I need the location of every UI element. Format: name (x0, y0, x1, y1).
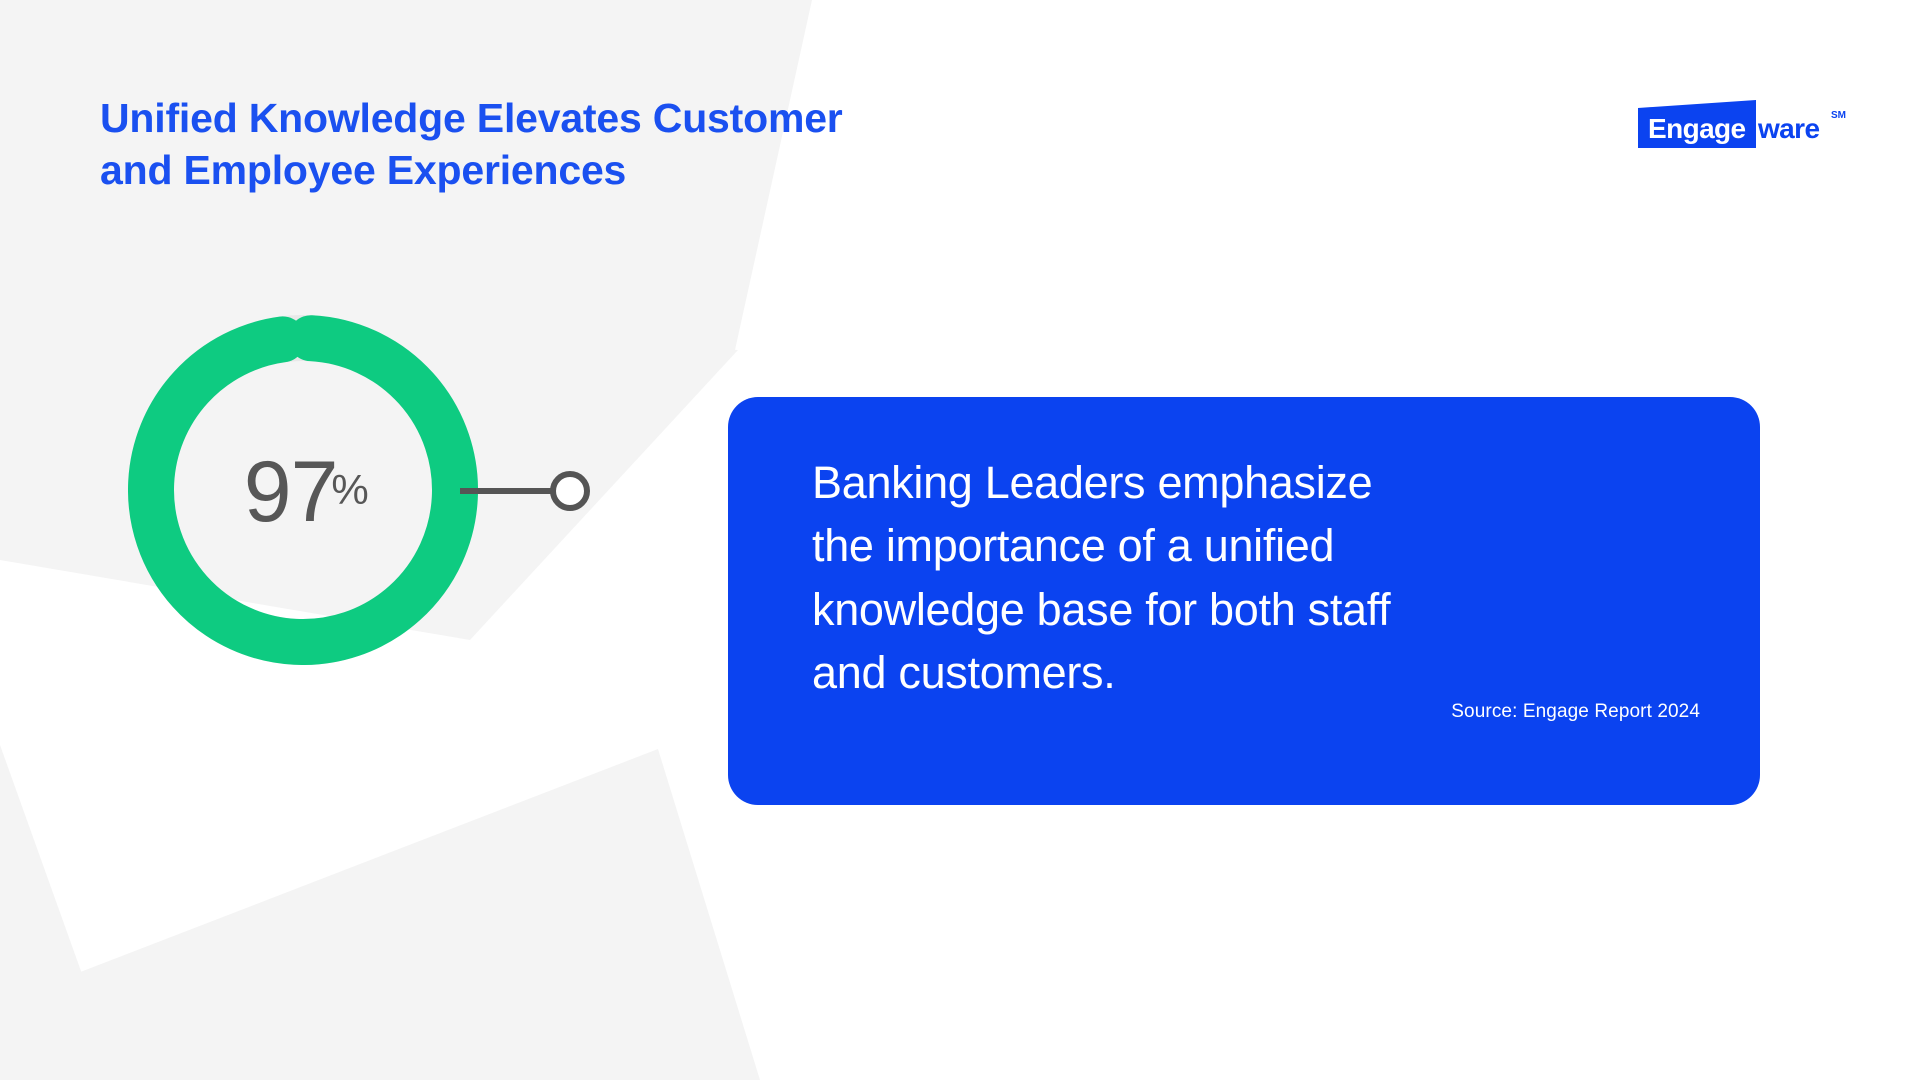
decor-shape-bottom-left (0, 749, 760, 1080)
page-title-line-2: and Employee Experiences (100, 144, 1050, 196)
page-title: Unified Knowledge Elevates Customer and … (100, 92, 1050, 197)
page-title-line-1: Unified Knowledge Elevates Customer (100, 92, 1050, 144)
callout-card: Banking Leaders emphasize the importance… (728, 397, 1760, 805)
slide-canvas: Unified Knowledge Elevates Customer and … (0, 0, 1920, 1080)
stat-value: 97 (244, 449, 338, 535)
engageware-logo[interactable]: Engage ware SM (1638, 100, 1853, 156)
callout-connector (460, 468, 590, 514)
logo-trademark: SM (1831, 110, 1846, 121)
logo-word-secondary: ware (1757, 113, 1819, 144)
stat-donut-chart: 97% (128, 315, 478, 665)
logo-word-primary: Engage (1648, 113, 1746, 144)
decor-shape-left-edge (0, 745, 120, 1080)
engageware-logo-icon: Engage ware SM (1638, 100, 1853, 156)
donut-center-label: 97% (128, 315, 478, 665)
callout-source-text: Source: Engage Report 2024 (1451, 701, 1700, 723)
connector-node-icon (553, 474, 587, 508)
callout-body-text: Banking Leaders emphasize the importance… (812, 451, 1694, 705)
